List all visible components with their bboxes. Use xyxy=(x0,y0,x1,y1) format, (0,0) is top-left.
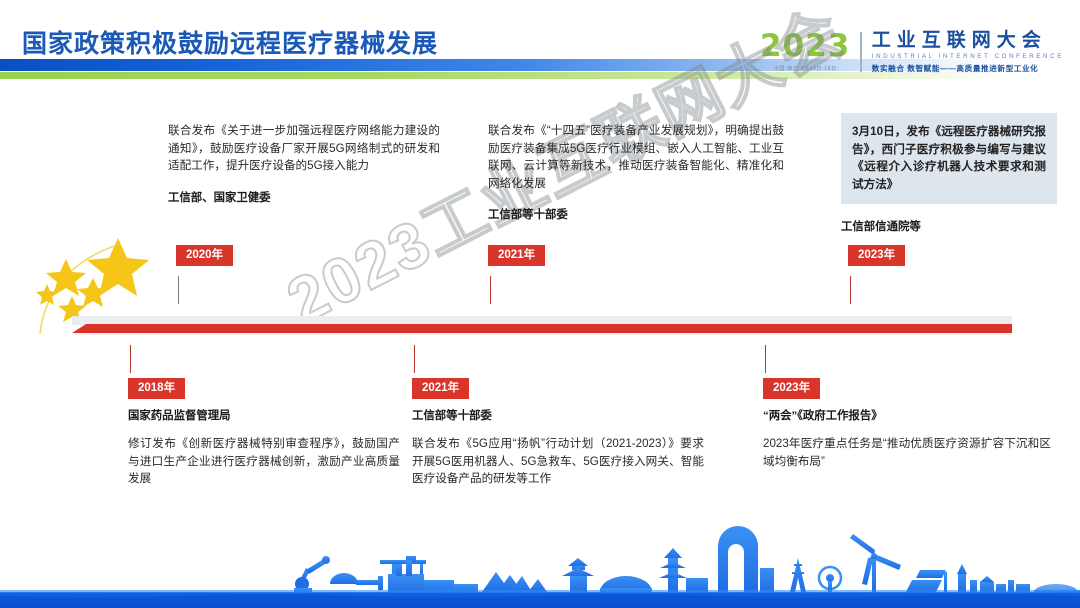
item-description: 联合发布《“十四五”医疗装备产业发展规划》，明确提出鼓励医疗装备集成5G医疗行业… xyxy=(488,122,784,192)
year-badge-2020[interactable]: 2020年 xyxy=(176,245,233,266)
item-description: 修订发布《创新医疗器械特别审查程序》，鼓励国产与进口生产企业进行医疗器械创新，激… xyxy=(128,435,400,488)
timeline-tick-2023-lower xyxy=(765,345,766,373)
year-badge-2021-upper-wrap: 2021年 xyxy=(488,245,545,266)
item-organization: 工信部、国家卫健委 xyxy=(168,189,440,205)
timeline-upper-item-2: 联合发布《“十四五”医疗装备产业发展规划》，明确提出鼓励医疗装备集成5G医疗行业… xyxy=(488,122,784,222)
logo-year: 2023 xyxy=(760,30,850,62)
timeline-lower-item-1: 国家药品监督管理局 修订发布《创新医疗器械特别审查程序》，鼓励国产与进口生产企业… xyxy=(128,407,400,488)
item-description: 2023年医疗重点任务是“推动优质医疗资源扩容下沉和区域均衡布局” xyxy=(763,435,1051,470)
year-badge-2023-lower-wrap: 2023年 xyxy=(763,378,820,399)
year-badge-2018-wrap: 2018年 xyxy=(128,378,185,399)
item-organization: 工信部信通院等 xyxy=(841,218,1057,234)
item-description: 联合发布《关于进一步加强远程医疗网络能力建设的通知》，鼓励医疗设备厂家开展5G网… xyxy=(168,122,440,175)
timeline-bar-gray xyxy=(72,316,1012,325)
timeline-lower-item-3: “两会”《政府工作报告》 2023年医疗重点任务是“推动优质医疗资源扩容下沉和区… xyxy=(763,407,1051,470)
timeline-upper-item-1: 联合发布《关于进一步加强远程医疗网络能力建设的通知》，鼓励医疗设备厂家开展5G网… xyxy=(168,122,440,205)
timeline-tick-2021-upper xyxy=(490,276,491,304)
timeline-tick-2023-upper xyxy=(850,276,851,304)
year-badge-2021-lower[interactable]: 2021年 xyxy=(412,378,469,399)
year-badge-2023-upper-wrap: 2023年 xyxy=(848,245,905,266)
conference-logo: 2023 中国·南方 8月14日-18日 工业互联网大会 INDUSTRIAL … xyxy=(760,30,1064,74)
item-organization: “两会”《政府工作报告》 xyxy=(763,407,1051,423)
logo-slogan: 数实融合 数智赋能——高质量推进新型工业化 xyxy=(872,63,1064,74)
year-badge-2021-upper[interactable]: 2021年 xyxy=(488,245,545,266)
city-skyline-graphic xyxy=(0,522,1080,608)
item-organization: 国家药品监督管理局 xyxy=(128,407,400,423)
timeline-tick-2018 xyxy=(130,345,131,373)
timeline-bar-shadow xyxy=(72,333,1012,335)
item-organization: 工信部等十部委 xyxy=(412,407,704,423)
year-badge-2021-lower-wrap: 2021年 xyxy=(412,378,469,399)
logo-name-en: INDUSTRIAL INTERNET CONFERENCE xyxy=(872,53,1064,60)
item-description: 联合发布《5G应用“扬帆”行动计划（2021-2023）》要求开展5G医用机器人… xyxy=(412,435,704,488)
page-title: 国家政策积极鼓励远程医疗器械发展 xyxy=(22,24,438,60)
year-badge-2020-wrap: 2020年 xyxy=(176,245,233,266)
timeline-tick-2021-lower xyxy=(414,345,415,373)
timeline-lower-item-2: 工信部等十部委 联合发布《5G应用“扬帆”行动计划（2021-2023）》要求开… xyxy=(412,407,704,488)
slide-root: 国家政策积极鼓励远程医疗器械发展 2023 中国·南方 8月14日-18日 工业… xyxy=(0,0,1080,608)
item-organization: 工信部等十部委 xyxy=(488,206,784,222)
year-badge-2018[interactable]: 2018年 xyxy=(128,378,185,399)
year-badge-2023-lower[interactable]: 2023年 xyxy=(763,378,820,399)
timeline-tick-2020 xyxy=(178,276,179,304)
logo-name-cn: 工业互联网大会 xyxy=(872,30,1064,51)
item-description-highlighted: 3月10日，发布《远程医疗器械研究报告》，西门子医疗积极参与编写与建议《远程介入… xyxy=(841,113,1057,204)
timeline-bar-red xyxy=(72,324,1012,333)
timeline-upper-item-3: 3月10日，发布《远程医疗器械研究报告》，西门子医疗积极参与编写与建议《远程介入… xyxy=(841,113,1057,234)
year-badge-2023-upper[interactable]: 2023年 xyxy=(848,245,905,266)
logo-year-subtitle: 中国·南方 8月14日-18日 xyxy=(774,65,837,72)
logo-name-block: 工业互联网大会 INDUSTRIAL INTERNET CONFERENCE 数… xyxy=(862,30,1064,74)
logo-year-block: 2023 中国·南方 8月14日-18日 xyxy=(760,30,860,72)
